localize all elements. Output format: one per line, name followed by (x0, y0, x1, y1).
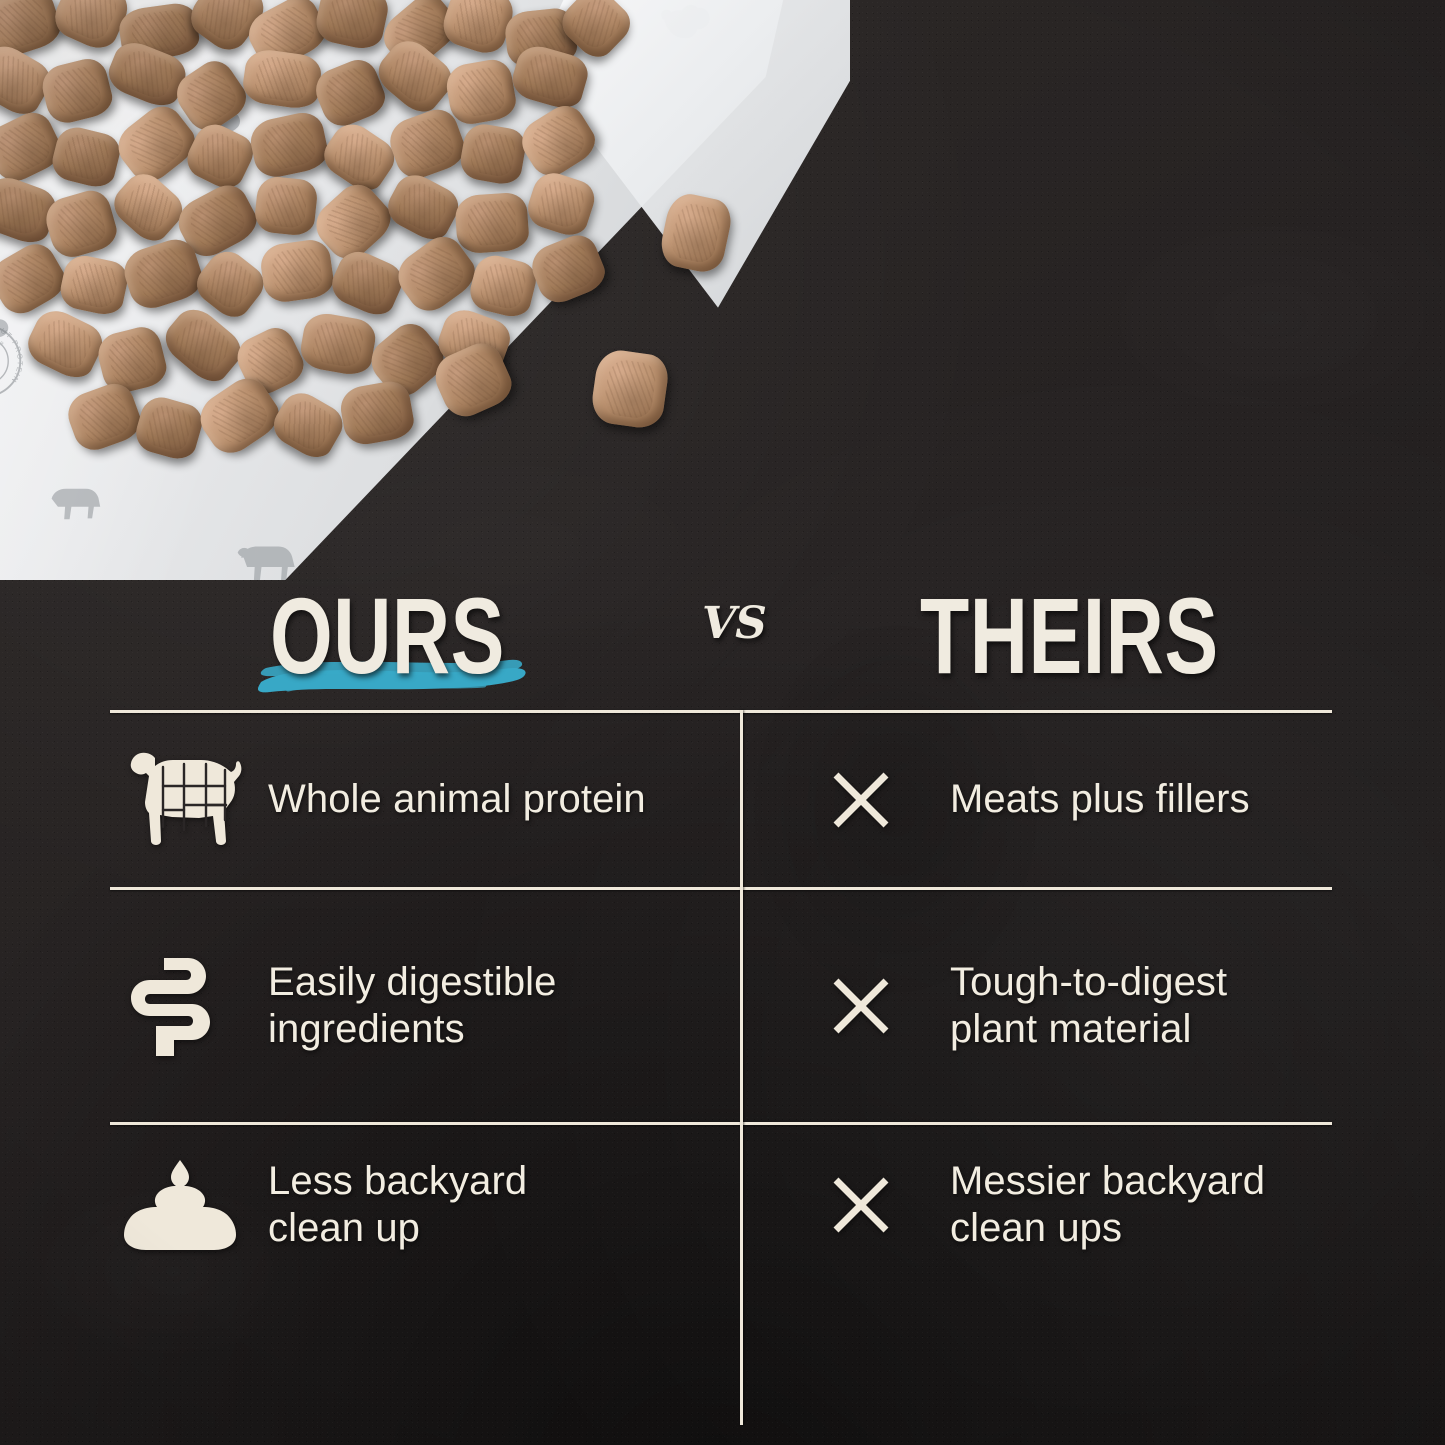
table-row: Easily digestible ingredients Tough-to-d… (110, 890, 1332, 1122)
row-2-ours-text: Easily digestible ingredients (268, 959, 557, 1053)
intestine-digestion-icon (118, 954, 268, 1058)
row-3-theirs-cell: Messier backyard clean ups (740, 1125, 1332, 1285)
row-2-theirs-text: Tough-to-digest plant material (950, 959, 1227, 1053)
column-header-ours: OURS (270, 582, 505, 690)
row-2-theirs-cell: Tough-to-digest plant material (740, 890, 1332, 1122)
x-mark-icon (824, 769, 950, 831)
cow-butcher-chart-icon (118, 748, 268, 852)
vs-label: VS (702, 602, 766, 646)
row-3-theirs-text: Messier backyard clean ups (950, 1158, 1265, 1252)
row-2-ours-cell: Easily digestible ingredients (110, 890, 740, 1122)
row-1-ours-cell: Whole animal protein (110, 713, 740, 887)
column-header-theirs: THEIRS (920, 582, 1219, 690)
table-headings: OURS VS THEIRS (110, 560, 1332, 710)
comparison-infographic: BUTCHER CUT PROTEIN BUTCHER CUT PROTEIN (0, 0, 1445, 1445)
comparison-table: OURS VS THEIRS (110, 560, 1332, 1285)
row-3-ours-text: Less backyard clean up (268, 1158, 527, 1252)
row-1-theirs-text: Meats plus fillers (950, 776, 1250, 823)
x-mark-icon (824, 1174, 950, 1236)
x-mark-icon (824, 975, 950, 1037)
row-1-theirs-cell: Meats plus fillers (740, 713, 1332, 887)
table-row: Less backyard clean up Messier backyard … (110, 1125, 1332, 1285)
row-1-ours-text: Whole animal protein (268, 776, 646, 823)
poop-icon (118, 1158, 268, 1252)
butcher-cut-protein-stamp: BUTCHER CUT PROTEIN BUTCHER CUT PROTEIN (0, 318, 28, 404)
svg-text:BUTCHER CUT PROTEIN: BUTCHER CUT PROTEIN (0, 333, 5, 377)
row-3-ours-cell: Less backyard clean up (110, 1125, 740, 1285)
product-photo: BUTCHER CUT PROTEIN BUTCHER CUT PROTEIN (0, 0, 860, 580)
table-row: Whole animal protein Meats plus fillers (110, 713, 1332, 887)
table-rows: Whole animal protein Meats plus fillers (110, 710, 1332, 1285)
